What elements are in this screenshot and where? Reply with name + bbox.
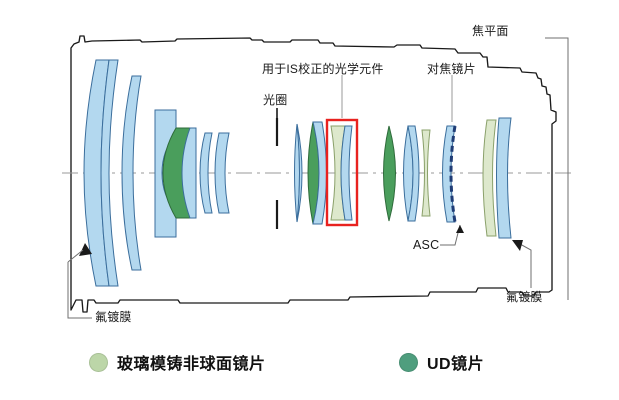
lens-group-rear bbox=[384, 118, 512, 238]
asc-coating-layer bbox=[451, 126, 455, 222]
label-fluorine-coating-right: 氟镀膜 bbox=[506, 291, 543, 303]
focal-plane-marker bbox=[545, 38, 568, 300]
legend-item-gmo-aspherical: 玻璃模铸非球面镜片 bbox=[89, 350, 266, 374]
lens-element-2 bbox=[122, 76, 141, 270]
lens-cross-section-svg bbox=[0, 0, 619, 400]
label-focus-lens: 对焦镜片 bbox=[427, 63, 476, 75]
legend-dot-ud bbox=[399, 353, 418, 372]
lens-group-front bbox=[84, 60, 229, 286]
lens-element-10-ud bbox=[384, 126, 396, 221]
legend: 玻璃模铸非球面镜片 UD镜片 bbox=[0, 348, 619, 388]
label-focal-plane: 焦平面 bbox=[472, 25, 509, 37]
lens-element-15 bbox=[497, 118, 512, 238]
legend-item-ud: UD镜片 bbox=[399, 350, 484, 374]
legend-label-ud: UD镜片 bbox=[427, 350, 484, 374]
lens-element-14-aspherical bbox=[483, 120, 496, 236]
legend-dot-gmo-aspherical bbox=[89, 353, 108, 372]
legend-label-gmo-aspherical: 玻璃模铸非球面镜片 bbox=[117, 350, 266, 374]
label-fluorine-coating-left: 氟镀膜 bbox=[95, 311, 132, 323]
lens-diagram-stage: 焦平面 用于IS校正的光学元件 对焦镜片 光圈 ASC 氟镀膜 氟镀膜 玻璃模铸… bbox=[0, 0, 619, 400]
lens-element-9b bbox=[341, 126, 352, 220]
label-asc: ASC bbox=[413, 239, 439, 252]
label-is-correction-element: 用于IS校正的光学元件 bbox=[262, 63, 384, 75]
label-aperture: 光圈 bbox=[263, 94, 287, 106]
lens-element-6 bbox=[215, 133, 229, 213]
